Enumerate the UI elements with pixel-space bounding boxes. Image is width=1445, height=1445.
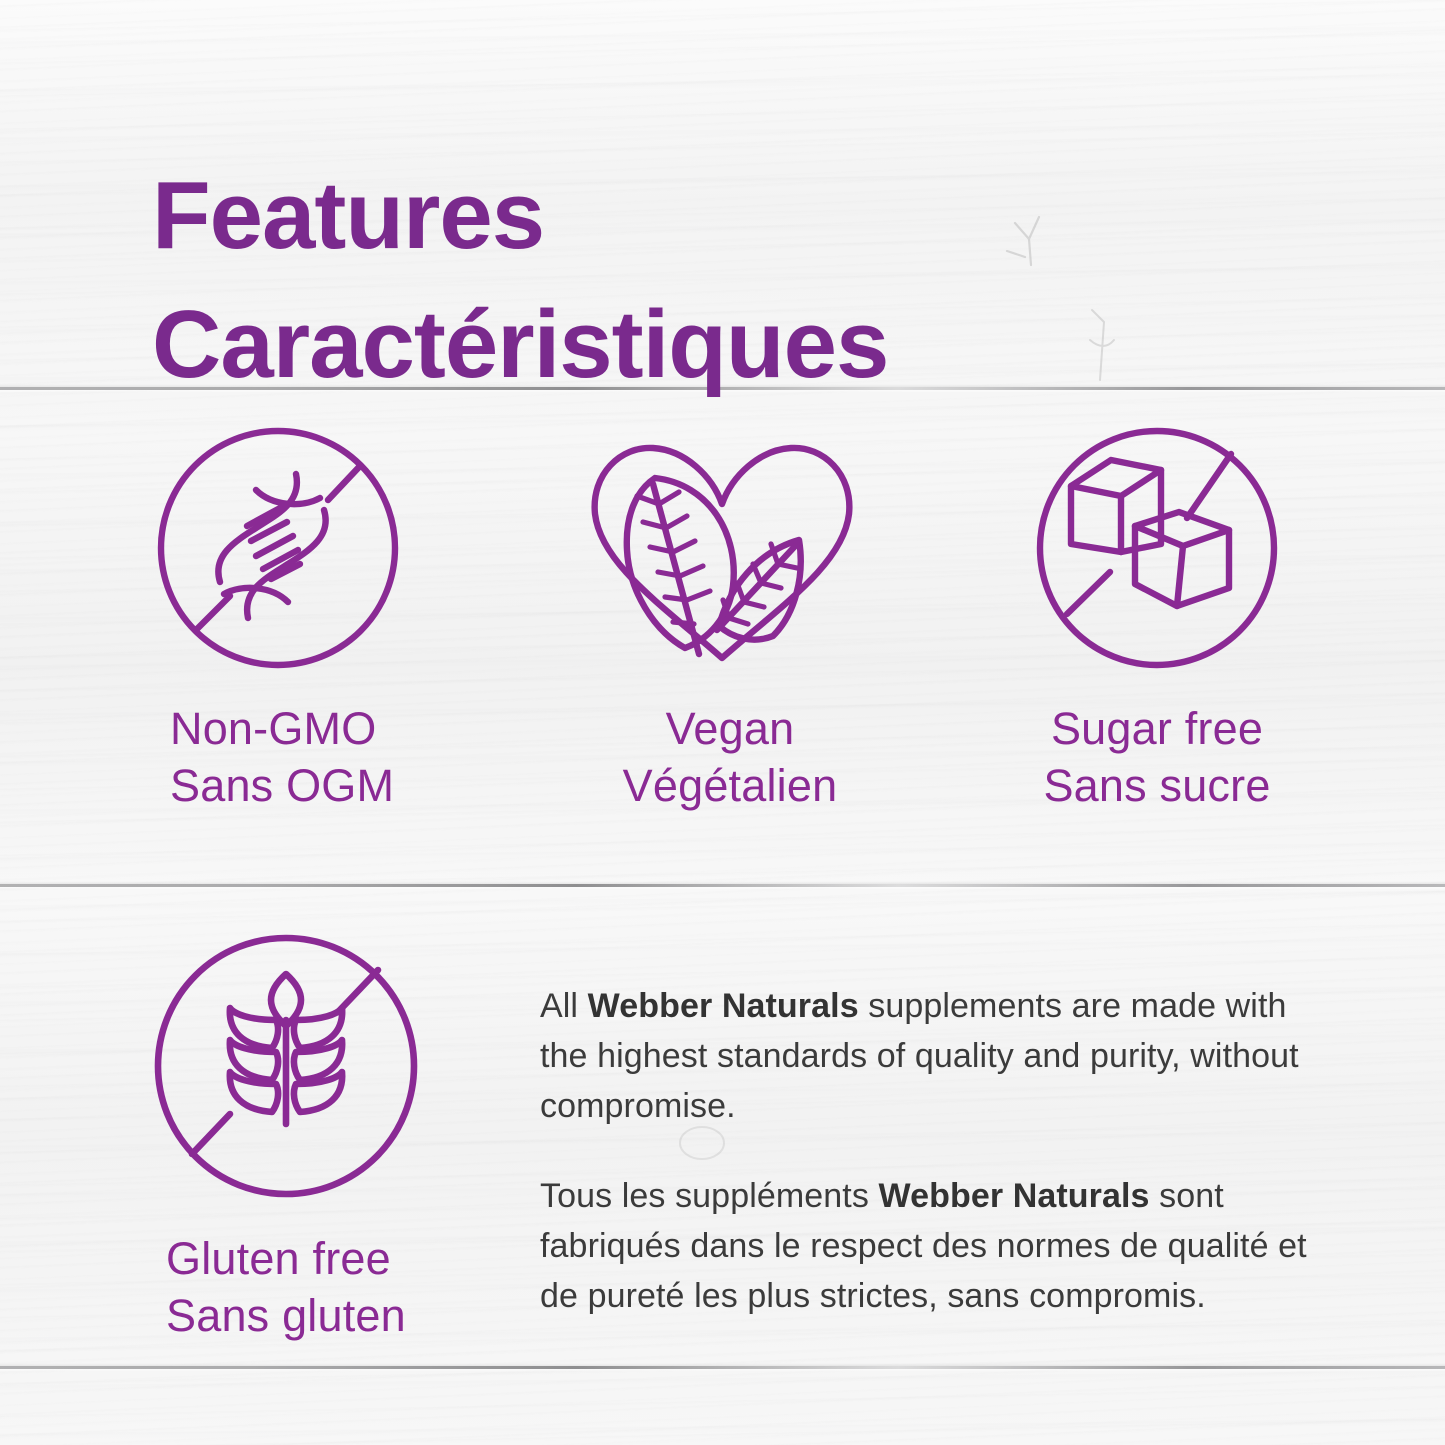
feature-label-non-gmo-fr: Sans OGM <box>170 757 404 814</box>
feature-label-gluten-free-en: Gluten free <box>166 1233 391 1284</box>
copy-fr-before: Tous les suppléments <box>540 1177 879 1215</box>
feature-label-sugar-free-fr: Sans sucre <box>1032 757 1282 814</box>
copy-en-before: All <box>540 987 588 1025</box>
feature-sugar-free: Sugar free Sans sucre <box>1032 422 1282 814</box>
feature-label-non-gmo: Non-GMO Sans OGM <box>152 700 404 814</box>
page-title-en: Features <box>152 152 1272 281</box>
no-wheat-icon <box>148 928 424 1204</box>
no-sugar-cubes-icon <box>1031 422 1283 674</box>
feature-vegan: Vegan Végétalien <box>575 422 885 814</box>
feature-label-non-gmo-en: Non-GMO <box>170 703 376 754</box>
plank-seam-3 <box>0 1366 1445 1369</box>
copy-en-brand: Webber Naturals <box>588 987 859 1025</box>
heart-leaves-icon <box>567 422 877 674</box>
feature-gluten-free: Gluten free Sans gluten <box>148 928 424 1344</box>
feature-label-vegan-en: Vegan <box>666 703 795 754</box>
brand-copy-fr: Tous les suppléments Webber Naturals son… <box>540 1172 1312 1322</box>
no-gmo-dna-icon <box>152 422 404 674</box>
brand-copy: All Webber Naturals supplements are made… <box>540 982 1312 1322</box>
copy-fr-brand: Webber Naturals <box>879 1177 1150 1215</box>
feature-non-gmo: Non-GMO Sans OGM <box>152 422 404 814</box>
feature-label-vegan: Vegan Végétalien <box>575 700 885 814</box>
feature-label-vegan-fr: Végétalien <box>575 757 885 814</box>
page-title-fr: Caractéristiques <box>152 281 1272 410</box>
feature-label-gluten-free: Gluten free Sans gluten <box>148 1230 424 1344</box>
page-title: Features Caractéristiques <box>152 152 1272 409</box>
feature-label-sugar-free-en: Sugar free <box>1051 703 1263 754</box>
feature-panel: Features Caractéristiques <box>0 0 1445 1445</box>
brand-copy-en: All Webber Naturals supplements are made… <box>540 982 1312 1132</box>
feature-label-sugar-free: Sugar free Sans sucre <box>1032 700 1282 814</box>
plank-seam-2 <box>0 884 1445 887</box>
feature-label-gluten-free-fr: Sans gluten <box>166 1287 424 1344</box>
